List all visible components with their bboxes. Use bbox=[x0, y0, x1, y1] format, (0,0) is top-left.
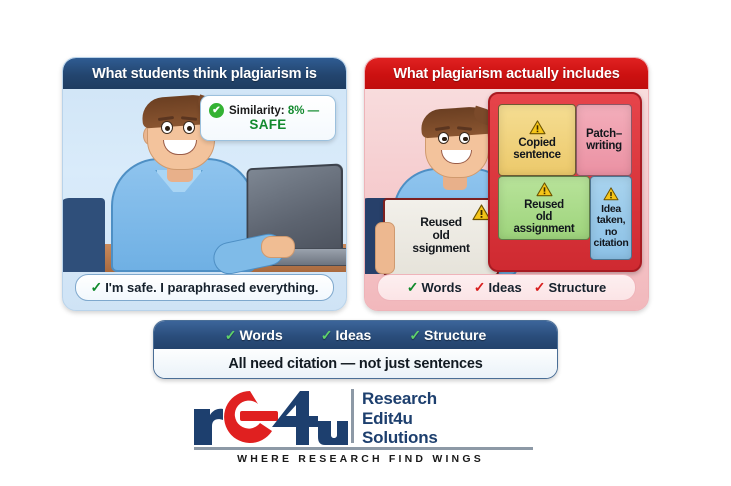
caption-item-words: ✓ Words bbox=[407, 279, 462, 296]
logo-mark-re4u bbox=[188, 387, 348, 449]
chair-back bbox=[63, 198, 105, 272]
held-paper-text: Reused old ssignment bbox=[385, 216, 497, 255]
warning-triangle-icon bbox=[536, 182, 553, 197]
puzzle-label-line-2: taken, bbox=[597, 215, 626, 227]
panel-plagiarism-includes: What plagiarism actually includes bbox=[364, 57, 649, 311]
check-icon: ✓ bbox=[407, 279, 419, 296]
held-paper-line-3: ssignment bbox=[385, 242, 497, 255]
caption-item-structure: ✓ Structure bbox=[534, 279, 607, 296]
logo-divider bbox=[351, 389, 354, 443]
puzzle-label-line-1: Copied bbox=[518, 137, 555, 149]
held-paper-reused-assignment: Reused old ssignment bbox=[383, 198, 499, 276]
puzzle-label-line-1: Patch– bbox=[586, 128, 622, 140]
logo-tagline: WHERE RESEARCH FIND WINGS bbox=[188, 453, 533, 465]
check-icon: ✓ bbox=[321, 327, 333, 344]
banner-item-ideas: ✓ Ideas bbox=[321, 327, 372, 344]
puzzle-label-line-2: old bbox=[536, 211, 552, 223]
warning-triangle-icon bbox=[529, 120, 546, 135]
infographic-canvas: What students think plagiarism is bbox=[0, 0, 731, 486]
caption-label-structure: Structure bbox=[548, 280, 606, 295]
banner-item-structure: ✓ Structure bbox=[409, 327, 486, 344]
puzzle-label-line-4: citation bbox=[594, 238, 629, 250]
logo-word-line-2: Edit4u bbox=[362, 409, 438, 429]
similarity-badge-row: ✔ Similarity: 8% — bbox=[209, 103, 327, 118]
logo-wordmark: Research Edit4u Solutions bbox=[362, 389, 438, 448]
banner-item-words: ✓ Words bbox=[225, 327, 283, 344]
pupil-left-right bbox=[442, 137, 447, 142]
panel-students-think: What students think plagiarism is bbox=[62, 57, 347, 311]
puzzle-label-line-2: sentence bbox=[513, 149, 560, 161]
left-caption-text: I'm safe. I paraphrased everything. bbox=[105, 280, 318, 295]
check-icon: ✓ bbox=[474, 279, 486, 296]
puzzle-label-line-2: writing bbox=[586, 140, 622, 152]
check-icon: ✓ bbox=[90, 279, 102, 296]
left-panel-header: What students think plagiarism is bbox=[63, 58, 346, 89]
brand-logo: Research Edit4u Solutions WHERE RESEARCH… bbox=[188, 387, 533, 467]
left-panel-body: ✔ Similarity: 8% — SAFE ✓ I'm safe. I pa… bbox=[63, 89, 346, 310]
similarity-value: 8% — bbox=[288, 105, 319, 117]
pupil-left bbox=[165, 126, 170, 131]
similarity-label: Similarity: bbox=[229, 105, 285, 117]
hand bbox=[261, 236, 295, 258]
caption-label-words: Words bbox=[422, 280, 462, 295]
puzzle-label-line-1: Reused bbox=[524, 199, 564, 211]
logo-rule bbox=[194, 447, 533, 450]
similarity-label-wrap: Similarity: 8% — bbox=[229, 105, 319, 117]
check-icon: ✓ bbox=[409, 327, 421, 344]
check-icon: ✓ bbox=[225, 327, 237, 344]
similarity-verdict: SAFE bbox=[209, 117, 327, 132]
check-circle-icon: ✔ bbox=[209, 103, 224, 118]
puzzle-piece-reused-old-assignment: Reused old assignment bbox=[498, 176, 590, 240]
hand-holding-paper bbox=[375, 222, 395, 274]
logo-word-line-1: Research bbox=[362, 389, 438, 409]
right-panel-body: Reused old ssignment bbox=[365, 89, 648, 310]
puzzle-piece-idea-taken-no-citation: Idea taken, no citation bbox=[590, 176, 632, 260]
logo-word-line-3: Solutions bbox=[362, 428, 438, 448]
left-panel-caption: ✓ I'm safe. I paraphrased everything. bbox=[75, 274, 334, 301]
summary-banner: ✓ Words ✓ Ideas ✓ Structure All need cit… bbox=[153, 320, 558, 379]
banner-checklist: ✓ Words ✓ Ideas ✓ Structure bbox=[154, 321, 557, 349]
warning-triangle-icon bbox=[603, 187, 620, 202]
pupil-right bbox=[187, 126, 192, 131]
banner-label-ideas: Ideas bbox=[336, 327, 372, 343]
puzzle-piece-patch-writing: Patch– writing bbox=[576, 104, 632, 176]
caption-label-ideas: Ideas bbox=[488, 280, 521, 295]
banner-subtitle: All need citation — not just sentences bbox=[154, 349, 557, 378]
plagiarism-puzzle-board: Copied sentence Patch– writing bbox=[488, 92, 642, 272]
similarity-badge: ✔ Similarity: 8% — SAFE bbox=[200, 95, 336, 141]
check-icon: ✓ bbox=[534, 279, 546, 296]
pupil-right-right bbox=[463, 137, 468, 142]
puzzle-label-line-3: assignment bbox=[514, 223, 575, 235]
caption-item-ideas: ✓ Ideas bbox=[474, 279, 522, 296]
right-panel-header: What plagiarism actually includes bbox=[365, 58, 648, 89]
banner-label-structure: Structure bbox=[424, 327, 486, 343]
banner-label-words: Words bbox=[239, 327, 282, 343]
puzzle-piece-copied-sentence: Copied sentence bbox=[498, 104, 576, 176]
right-panel-caption: ✓ Words ✓ Ideas ✓ Structure bbox=[377, 274, 636, 301]
